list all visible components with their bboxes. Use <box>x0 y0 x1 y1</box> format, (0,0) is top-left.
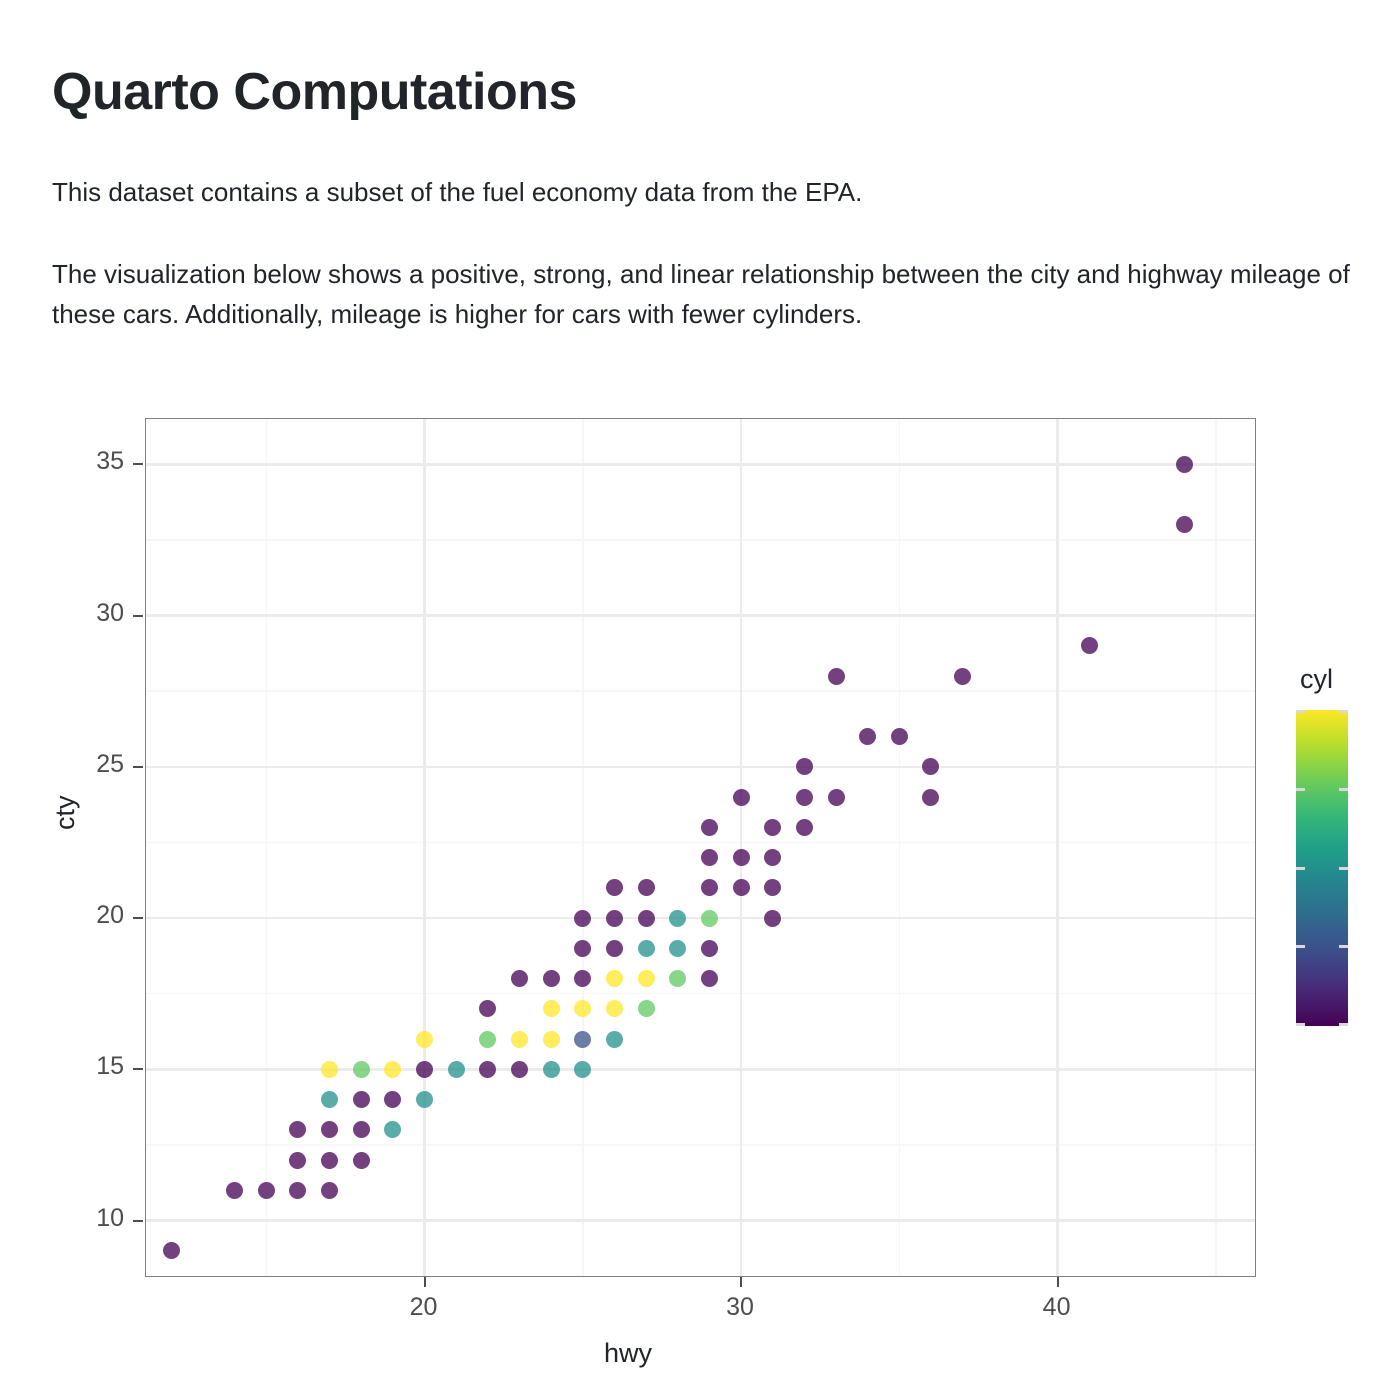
legend-tick-mark <box>1339 710 1348 713</box>
page-title: Quarto Computations <box>52 63 577 123</box>
scatter-point <box>606 1031 623 1048</box>
legend-colorbar <box>1296 710 1348 1026</box>
scatter-point <box>574 1000 591 1017</box>
scatter-point <box>891 728 908 745</box>
scatter-point <box>733 789 750 806</box>
scatter-point <box>828 789 845 806</box>
y-tick-mark <box>133 1220 143 1222</box>
gridline-major-horizontal <box>146 1068 1255 1071</box>
scatter-point <box>574 1031 591 1048</box>
scatter-point <box>638 879 655 896</box>
scatter-point <box>511 1031 528 1048</box>
gridline-major-horizontal <box>146 463 1255 466</box>
scatter-point <box>606 970 623 987</box>
scatter-point <box>416 1061 433 1078</box>
scatter-point <box>574 1061 591 1078</box>
scatter-point <box>764 879 781 896</box>
scatter-point <box>574 970 591 987</box>
gridline-minor-horizontal <box>146 993 1255 995</box>
scatter-point <box>479 1000 496 1017</box>
x-tick-mark <box>740 1277 742 1287</box>
scatter-point <box>1176 456 1193 473</box>
gridline-major-horizontal <box>146 614 1255 617</box>
scatter-point <box>669 940 686 957</box>
y-tick-mark <box>133 917 143 919</box>
gridline-minor-vertical <box>582 419 584 1276</box>
scatter-point <box>321 1091 338 1108</box>
scatter-point <box>606 1000 623 1017</box>
gridline-major-horizontal <box>146 766 1255 769</box>
scatter-point <box>733 849 750 866</box>
legend-tick-mark <box>1296 945 1305 948</box>
scatter-point <box>701 910 718 927</box>
scatter-point <box>796 819 813 836</box>
scatter-point <box>764 910 781 927</box>
scatter-point <box>353 1061 370 1078</box>
scatter-point <box>416 1091 433 1108</box>
scatter-point <box>796 789 813 806</box>
gridline-minor-vertical <box>1215 419 1217 1276</box>
scatter-point <box>701 970 718 987</box>
scatter-point <box>574 910 591 927</box>
scatter-point <box>321 1121 338 1138</box>
scatter-point <box>606 940 623 957</box>
y-tick-label: 20 <box>96 901 124 930</box>
scatter-point <box>416 1031 433 1048</box>
scatter-point <box>828 668 845 685</box>
gridline-minor-horizontal <box>146 690 1255 692</box>
x-tick-label: 40 <box>1043 1293 1071 1322</box>
y-tick-mark <box>133 615 143 617</box>
scatter-point <box>764 819 781 836</box>
scatter-point <box>638 910 655 927</box>
gridline-major-vertical <box>1056 419 1059 1276</box>
legend-tick-mark <box>1296 710 1305 713</box>
scatter-point <box>764 849 781 866</box>
scatter-point <box>321 1152 338 1169</box>
y-tick-label: 15 <box>96 1052 124 1081</box>
scatter-point <box>796 758 813 775</box>
gridline-minor-horizontal <box>146 1144 1255 1146</box>
scatter-point <box>479 1031 496 1048</box>
scatter-point <box>1081 637 1098 654</box>
legend-tick-mark <box>1339 945 1348 948</box>
y-tick-label: 35 <box>96 447 124 476</box>
x-axis-title: hwy <box>0 1338 1400 1369</box>
y-tick-label: 10 <box>96 1204 124 1233</box>
y-tick-mark <box>133 463 143 465</box>
gridline-major-vertical <box>740 419 743 1276</box>
legend-tick-mark <box>1339 1023 1348 1026</box>
scatter-point <box>543 970 560 987</box>
legend-title: cyl <box>1300 664 1333 695</box>
legend-tick-mark <box>1296 1023 1305 1026</box>
y-tick-mark <box>133 1068 143 1070</box>
scatter-point <box>922 758 939 775</box>
scatter-point <box>701 849 718 866</box>
scatter-point <box>669 910 686 927</box>
gridline-major-vertical <box>423 419 426 1276</box>
document-page: Quarto Computations This dataset contain… <box>0 0 1400 1400</box>
gridline-major-horizontal <box>146 1219 1255 1222</box>
scatter-point <box>226 1182 243 1199</box>
x-tick-label: 30 <box>726 1293 754 1322</box>
scatter-plot-figure: 101520253035203040 cty hwy cyl <box>0 400 1400 1390</box>
scatter-point <box>353 1152 370 1169</box>
plot-panel <box>145 418 1256 1277</box>
scatter-point <box>543 1061 560 1078</box>
scatter-point <box>353 1121 370 1138</box>
description-paragraph: The visualization below shows a positive… <box>52 254 1352 335</box>
scatter-point <box>163 1242 180 1259</box>
x-tick-mark <box>424 1277 426 1287</box>
scatter-point <box>574 940 591 957</box>
scatter-point <box>384 1121 401 1138</box>
x-tick-mark <box>1057 1277 1059 1287</box>
scatter-point <box>321 1182 338 1199</box>
intro-paragraph: This dataset contains a subset of the fu… <box>52 172 1352 212</box>
scatter-point <box>701 819 718 836</box>
scatter-point <box>543 1031 560 1048</box>
legend-tick-mark <box>1339 788 1348 791</box>
scatter-point <box>669 970 686 987</box>
scatter-point <box>384 1091 401 1108</box>
y-tick-label: 30 <box>96 599 124 628</box>
legend-tick-mark <box>1296 867 1305 870</box>
scatter-point <box>638 970 655 987</box>
scatter-point <box>638 1000 655 1017</box>
scatter-point <box>859 728 876 745</box>
scatter-point <box>258 1182 275 1199</box>
scatter-point <box>511 1061 528 1078</box>
scatter-point <box>701 940 718 957</box>
scatter-point <box>954 668 971 685</box>
scatter-point <box>353 1091 370 1108</box>
scatter-point <box>701 879 718 896</box>
gridline-minor-vertical <box>899 419 901 1276</box>
scatter-point <box>384 1061 401 1078</box>
scatter-point <box>289 1152 306 1169</box>
scatter-point <box>606 910 623 927</box>
y-tick-label: 25 <box>96 750 124 779</box>
scatter-point <box>289 1182 306 1199</box>
scatter-point <box>289 1121 306 1138</box>
scatter-point <box>479 1061 496 1078</box>
y-axis-title: cty <box>50 795 81 830</box>
gridline-minor-horizontal <box>146 842 1255 844</box>
gridline-minor-vertical <box>266 419 268 1276</box>
scatter-point <box>448 1061 465 1078</box>
x-tick-label: 20 <box>410 1293 438 1322</box>
scatter-point <box>733 879 750 896</box>
y-tick-mark <box>133 766 143 768</box>
gridline-minor-horizontal <box>146 539 1255 541</box>
scatter-point <box>543 1000 560 1017</box>
scatter-point <box>321 1061 338 1078</box>
scatter-point <box>922 789 939 806</box>
scatter-point <box>1176 516 1193 533</box>
scatter-point <box>606 879 623 896</box>
legend-tick-mark <box>1339 867 1348 870</box>
legend-tick-mark <box>1296 788 1305 791</box>
scatter-point <box>511 970 528 987</box>
scatter-point <box>638 940 655 957</box>
